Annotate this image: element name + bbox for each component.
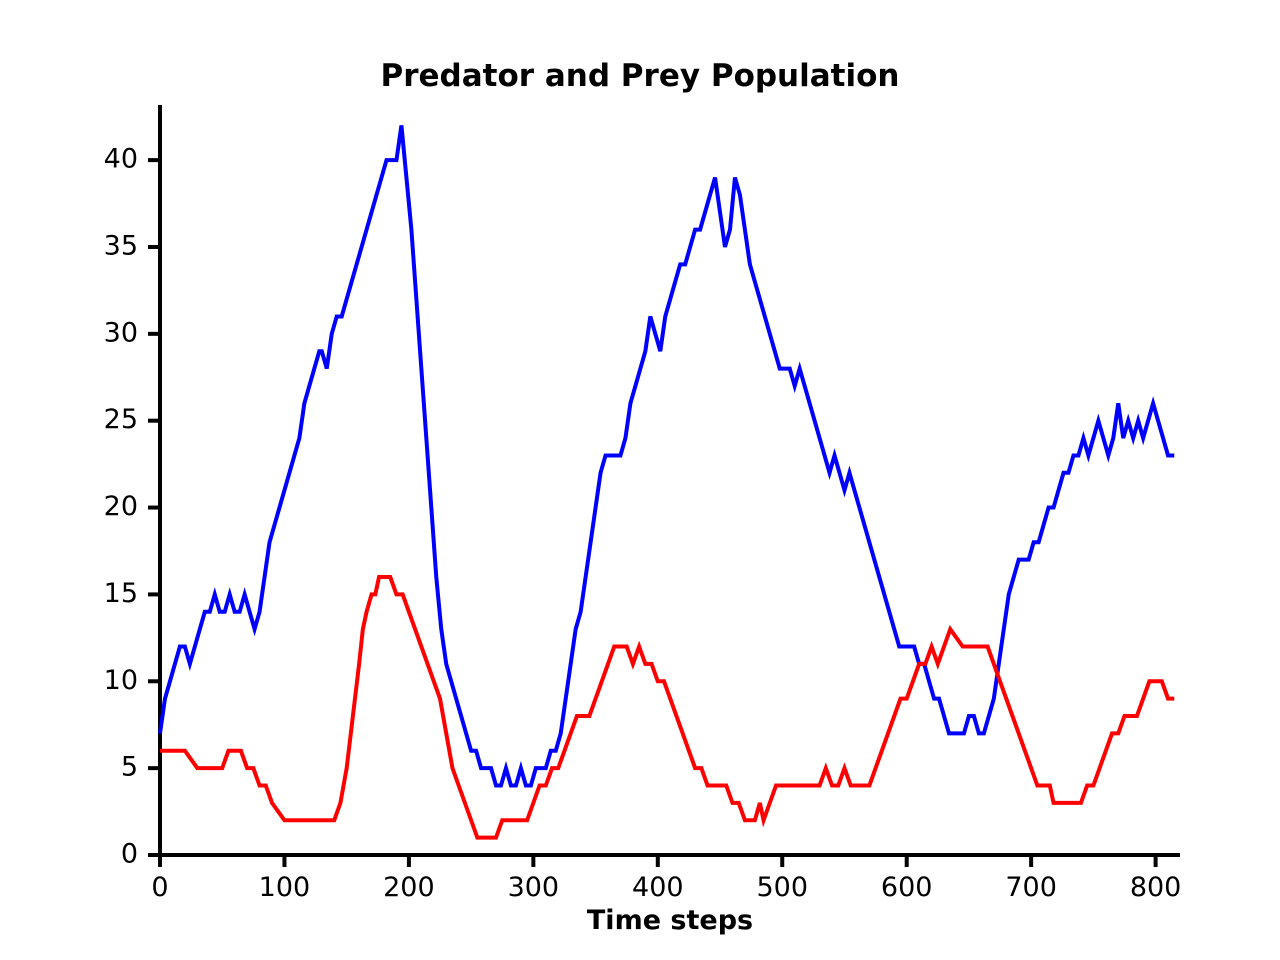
y-tick-label: 35 xyxy=(104,230,138,261)
x-tick-label: 300 xyxy=(508,872,560,903)
figure-canvas: Predator and Prey Population 05101520253… xyxy=(0,0,1280,960)
x-tick-label: 400 xyxy=(632,872,684,903)
plot-area: 0510152025303540 01002003004005006007008… xyxy=(0,0,1280,960)
y-tick-label: 30 xyxy=(104,317,138,348)
x-tick-label: 700 xyxy=(1005,872,1057,903)
axis-spines xyxy=(158,105,1180,855)
x-tick-label: 200 xyxy=(383,872,435,903)
y-tick-label: 15 xyxy=(104,578,138,609)
series-line-predator xyxy=(160,577,1174,838)
y-tick-label: 25 xyxy=(104,404,138,435)
x-tick-label: 600 xyxy=(881,872,933,903)
x-tick-label: 800 xyxy=(1130,872,1182,903)
y-tick-label: 5 xyxy=(121,752,138,783)
x-tick-label: 100 xyxy=(259,872,311,903)
y-axis-ticks: 0510152025303540 xyxy=(104,144,160,870)
y-tick-label: 0 xyxy=(121,839,138,870)
y-tick-label: 10 xyxy=(104,665,138,696)
x-tick-label: 0 xyxy=(151,872,168,903)
x-axis-ticks: 0100200300400500600700800 xyxy=(151,855,1181,903)
y-tick-label: 40 xyxy=(104,144,138,175)
y-tick-label: 20 xyxy=(104,491,138,522)
data-series-group xyxy=(160,125,1174,837)
x-tick-label: 500 xyxy=(756,872,808,903)
x-axis-label: Time steps xyxy=(160,905,1180,936)
